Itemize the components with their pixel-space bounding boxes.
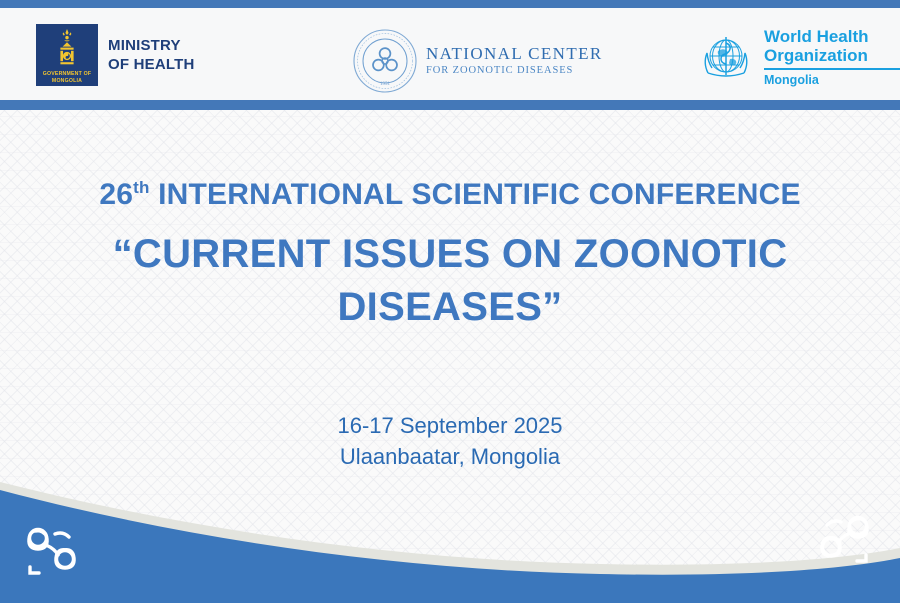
seal-year: 1951 — [380, 82, 391, 87]
conference-label: INTERNATIONAL SCIENTIFIC CONFERENCE — [158, 178, 801, 211]
top-accent-bar — [0, 0, 900, 8]
ministry-name: MINISTRY OF HEALTH — [108, 36, 195, 74]
soyombo-icon — [54, 28, 80, 68]
logo-header-band: GOVERNMENT OF MONGOLIA MINISTRY OF HEALT… — [0, 8, 900, 100]
emblem-caption: GOVERNMENT OF MONGOLIA — [36, 71, 98, 84]
ministry-of-health-logo: GOVERNMENT OF MONGOLIA MINISTRY OF HEALT… — [36, 24, 195, 86]
conference-edition-line: 26th INTERNATIONAL SCIENTIFIC CONFERENCE — [0, 178, 900, 212]
who-name-line1: World Health — [764, 28, 900, 47]
national-center-name-line2: FOR ZOONOTIC DISEASES — [426, 64, 603, 78]
ministry-name-line1: MINISTRY — [108, 36, 195, 55]
slide-body: 26th INTERNATIONAL SCIENTIFIC CONFERENCE… — [0, 110, 900, 603]
who-divider — [764, 68, 900, 70]
conference-headline: “CURRENT ISSUES ON ZOONOTIC DISEASES” — [95, 228, 805, 334]
national-center-logo: 1951 NATIONAL CENTER FOR ZOONOTIC DISEAS… — [352, 28, 603, 94]
who-globe-asclepius-icon — [697, 29, 755, 87]
conference-title-slide: GOVERNMENT OF MONGOLIA MINISTRY OF HEALT… — [0, 0, 900, 603]
who-name-line2: Organization — [764, 47, 900, 66]
ministry-name-line2: OF HEALTH — [108, 55, 195, 74]
edition-suffix: th — [133, 178, 149, 197]
edition-number: 26 — [99, 178, 133, 211]
header-divider-bar — [0, 100, 900, 110]
celtic-knot-ornament-icon-right — [798, 507, 878, 569]
who-name: World Health Organization Mongolia — [764, 28, 900, 87]
national-center-name-line1: NATIONAL CENTER — [426, 44, 603, 64]
celtic-knot-ornament-icon-left — [18, 519, 98, 581]
event-meta: 16-17 September 2025 Ulaanbaatar, Mongol… — [0, 410, 900, 472]
mongolia-government-emblem: GOVERNMENT OF MONGOLIA — [36, 24, 98, 86]
national-center-name: NATIONAL CENTER FOR ZOONOTIC DISEASES — [426, 44, 603, 78]
biohazard-seal-icon: 1951 — [352, 28, 418, 94]
event-dates: 16-17 September 2025 — [0, 410, 900, 441]
who-logo: World Health Organization Mongolia — [697, 28, 900, 87]
who-country-label: Mongolia — [764, 73, 900, 87]
bottom-wave-decoration — [0, 468, 900, 603]
